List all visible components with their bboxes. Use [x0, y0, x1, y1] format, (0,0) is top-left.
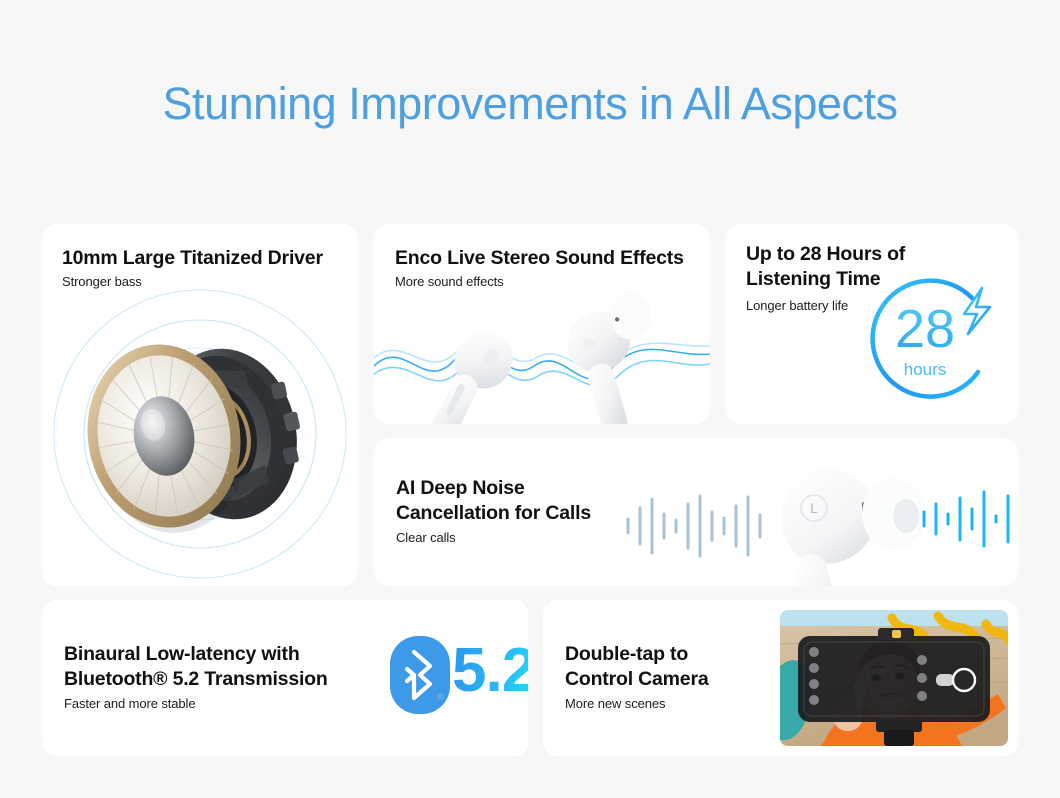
card-subtitle: Faster and more stable: [64, 696, 195, 711]
bluetooth-version: 5.2: [452, 632, 528, 710]
gauge-unit: hours: [860, 360, 990, 380]
card-subtitle: Clear calls: [396, 530, 456, 545]
feature-card-driver: 10mm Large Titanized Driver Stronger bas…: [42, 224, 358, 586]
bluetooth-badge: ® 5.2: [390, 636, 528, 720]
selfie-photo: [780, 610, 1008, 746]
earbuds-sound-waves-illustration: [374, 284, 710, 424]
bluetooth-icon: [390, 636, 450, 714]
registered-mark: ®: [437, 692, 444, 702]
feature-card-stereo: Enco Live Stereo Sound Effects More soun…: [374, 224, 710, 424]
card-title: Double-tap to Control Camera: [565, 642, 708, 692]
card-title: 10mm Large Titanized Driver: [62, 246, 323, 271]
gauge-value: 28: [860, 302, 990, 356]
card-subtitle: Longer battery life: [746, 298, 848, 313]
feature-card-camera: Double-tap to Control Camera More new sc…: [543, 600, 1018, 756]
card-title: Enco Live Stereo Sound Effects: [395, 246, 684, 271]
card-title: AI Deep Noise Cancellation for Calls: [396, 476, 591, 526]
feature-card-anc: AI Deep Noise Cancellation for Calls Cle…: [374, 438, 1018, 586]
earbud-side-label: L: [810, 500, 818, 516]
feature-showcase-page: Stunning Improvements in All Aspects 10m…: [0, 0, 1060, 798]
page-title: Stunning Improvements in All Aspects: [0, 78, 1060, 130]
speaker-driver-illustration: [42, 284, 358, 584]
card-title: Binaural Low-latency with Bluetooth® 5.2…: [64, 642, 328, 692]
anc-noise-bars-illustration: L: [618, 452, 1018, 586]
feature-card-bluetooth: Binaural Low-latency with Bluetooth® 5.2…: [42, 600, 528, 756]
feature-card-battery: Up to 28 Hours of Listening Time Longer …: [726, 224, 1018, 424]
battery-ring-gauge: 28 hours: [860, 276, 1010, 416]
card-subtitle: More new scenes: [565, 696, 665, 711]
